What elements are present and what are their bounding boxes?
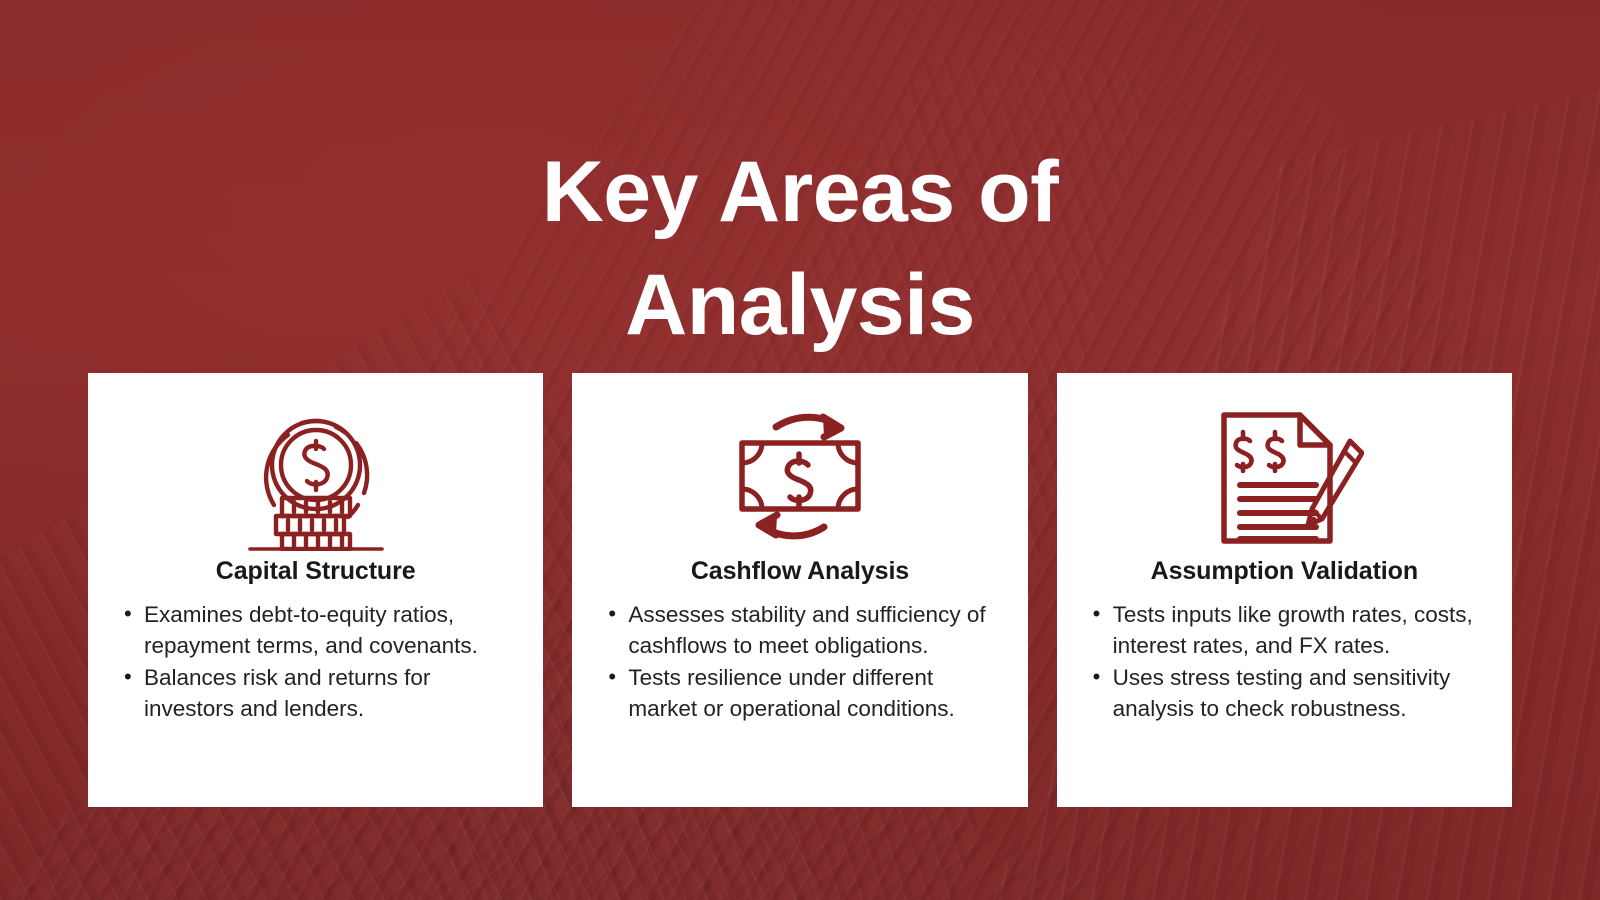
list-item: Tests resilience under different market …	[628, 663, 1001, 724]
list-item: Balances risk and returns for investors …	[144, 663, 517, 724]
list-item: Uses stress testing and sensitivity anal…	[1113, 663, 1486, 724]
slide-root: Key Areas of Analysis	[0, 0, 1600, 900]
card-bullet-list: Tests inputs like growth rates, costs, i…	[1079, 600, 1490, 726]
card-grid: Capital Structure Examines debt-to-equit…	[88, 373, 1512, 807]
document-dollar-pencil-icon	[1204, 401, 1364, 551]
card-capital-structure[interactable]: Capital Structure Examines debt-to-equit…	[88, 373, 543, 807]
list-item: Examines debt-to-equity ratios, repaymen…	[144, 600, 517, 661]
card-bullet-list: Examines debt-to-equity ratios, repaymen…	[110, 600, 521, 726]
card-bullet-list: Assesses stability and sufficiency of ca…	[594, 600, 1005, 726]
list-item: Assesses stability and sufficiency of ca…	[628, 600, 1001, 661]
card-title: Assumption Validation	[1151, 557, 1418, 586]
coin-stack-dollar-icon	[236, 401, 396, 551]
card-assumption-validation[interactable]: Assumption Validation Tests inputs like …	[1057, 373, 1512, 807]
card-cashflow-analysis[interactable]: Cashflow Analysis Assesses stability and…	[572, 373, 1027, 807]
card-title: Cashflow Analysis	[691, 557, 909, 586]
page-title: Key Areas of Analysis	[0, 136, 1600, 363]
banknote-circular-arrows-icon	[720, 401, 880, 551]
card-title: Capital Structure	[216, 557, 416, 586]
list-item: Tests inputs like growth rates, costs, i…	[1113, 600, 1486, 661]
